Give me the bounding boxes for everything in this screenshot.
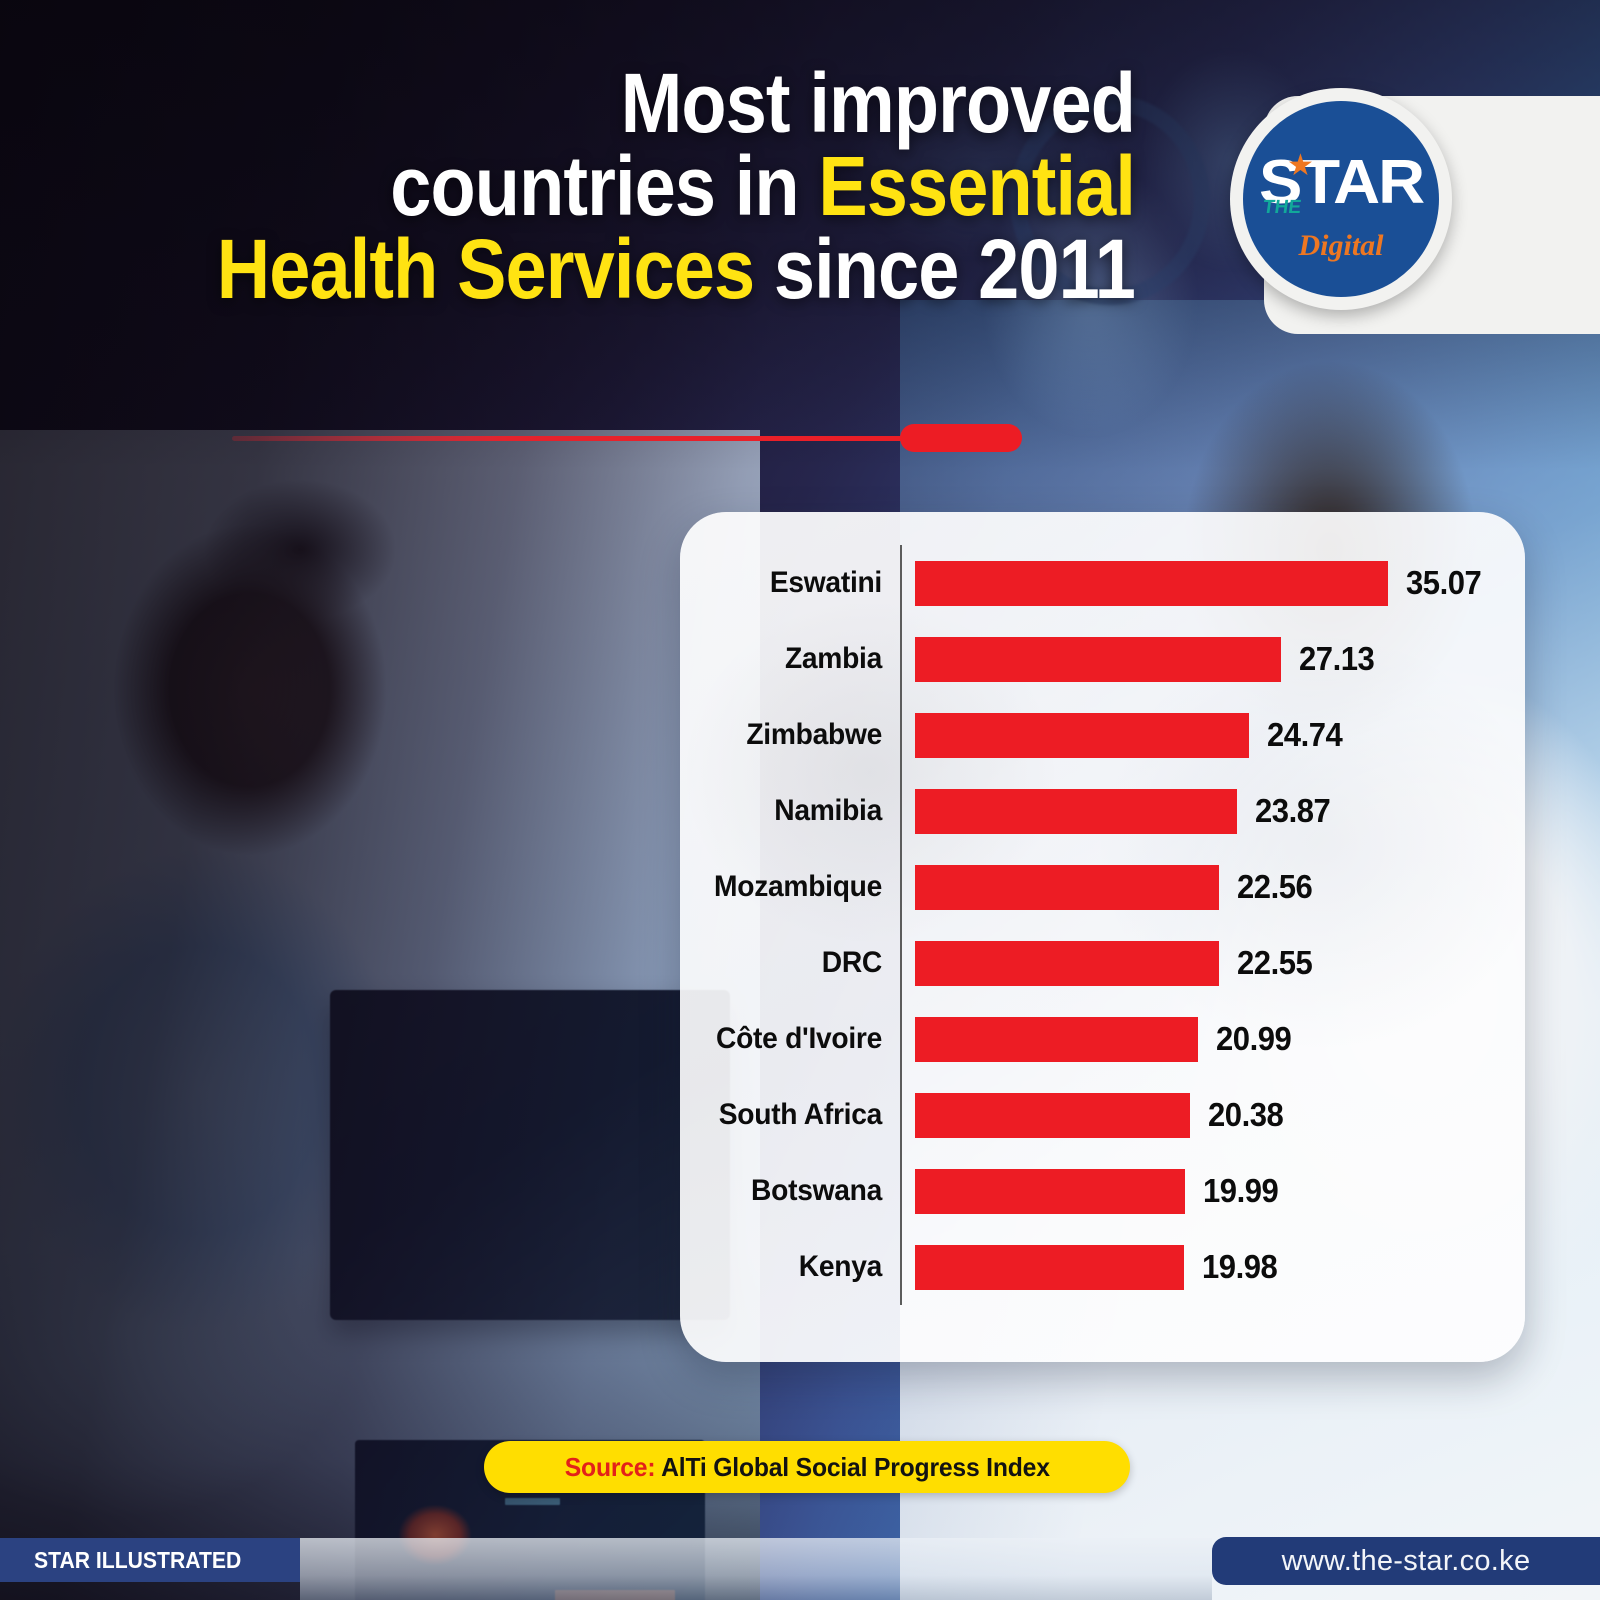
background-photo-clinician [0, 430, 760, 1600]
footer-brand-label: STAR ILLUSTRATED [34, 1547, 241, 1574]
bar-category-label: Zambia [692, 621, 882, 697]
bar-value-label: 23.87 [1255, 773, 1330, 849]
bar [915, 1093, 1190, 1138]
bar-row: South Africa20.38 [680, 1077, 1525, 1153]
source-value: AlTi Global Social Progress Index [655, 1452, 1049, 1482]
logo-digital-text: Digital [1243, 229, 1439, 263]
source-badge: Source: AlTi Global Social Progress Inde… [484, 1441, 1130, 1493]
star-digital-logo[interactable]: STAR THE ★ Digital [1230, 88, 1452, 310]
bar-row: Eswatini35.07 [680, 545, 1525, 621]
bar-category-label: Côte d'Ivoire [692, 1001, 882, 1077]
bar-value-label: 22.55 [1237, 925, 1312, 1001]
star-icon: ★ [1287, 151, 1314, 181]
bar-row: Zimbabwe24.74 [680, 697, 1525, 773]
bar-row: Mozambique22.56 [680, 849, 1525, 925]
footer-url-label: www.the-star.co.ke [1282, 1545, 1531, 1578]
bar [915, 637, 1281, 682]
title-divider-cap [900, 424, 1022, 452]
bar-value-label: 20.99 [1216, 1001, 1291, 1077]
bar-row: Zambia27.13 [680, 621, 1525, 697]
bar [915, 1245, 1184, 1290]
bar-category-label: South Africa [692, 1077, 882, 1153]
bar-value-label: 19.98 [1202, 1229, 1277, 1305]
bar [915, 941, 1219, 986]
bar [915, 1017, 1198, 1062]
bar [915, 865, 1219, 910]
source-label: Source: [564, 1452, 655, 1482]
headline-line-2: countries in Essential [136, 145, 1135, 228]
logo-circle-inner: STAR THE ★ Digital [1243, 101, 1439, 297]
page-title: Most improved countries in Essential Hea… [136, 62, 1135, 311]
bar-value-label: 22.56 [1237, 849, 1312, 925]
bar-row: DRC22.55 [680, 925, 1525, 1001]
logo-the-text: THE [1261, 197, 1302, 219]
bar [915, 561, 1388, 606]
bar [915, 1169, 1185, 1214]
headline-line-3: Health Services since 2011 [136, 228, 1135, 311]
footer-brand-bar: STAR ILLUSTRATED [0, 1538, 300, 1582]
bar-value-label: 20.38 [1208, 1077, 1283, 1153]
bar-rows-container: Eswatini35.07Zambia27.13Zimbabwe24.74Nam… [680, 545, 1525, 1305]
bar [915, 713, 1249, 758]
bar-row: Côte d'Ivoire20.99 [680, 1001, 1525, 1077]
bar-value-label: 35.07 [1406, 545, 1481, 621]
bar-category-label: Botswana [692, 1153, 882, 1229]
footer-url-bar[interactable]: www.the-star.co.ke [1212, 1537, 1600, 1585]
bar [915, 789, 1237, 834]
bar-category-label: Kenya [692, 1229, 882, 1305]
bar-category-label: DRC [692, 925, 882, 1001]
source-text: Source: AlTi Global Social Progress Inde… [564, 1452, 1049, 1483]
bar-value-label: 19.99 [1203, 1153, 1278, 1229]
bar-row: Namibia23.87 [680, 773, 1525, 849]
footer-strip [300, 1538, 1212, 1600]
bar-category-label: Eswatini [692, 545, 882, 621]
bar-category-label: Namibia [692, 773, 882, 849]
bar-category-label: Mozambique [692, 849, 882, 925]
bar-row: Botswana19.99 [680, 1153, 1525, 1229]
headline-line-1: Most improved [136, 62, 1135, 145]
bar-value-label: 27.13 [1299, 621, 1374, 697]
infographic-canvas: Most improved countries in Essential Hea… [0, 0, 1600, 1600]
bar-row: Kenya19.98 [680, 1229, 1525, 1305]
bar-value-label: 24.74 [1267, 697, 1342, 773]
bar-category-label: Zimbabwe [692, 697, 882, 773]
chart-panel: Eswatini35.07Zambia27.13Zimbabwe24.74Nam… [680, 512, 1525, 1362]
